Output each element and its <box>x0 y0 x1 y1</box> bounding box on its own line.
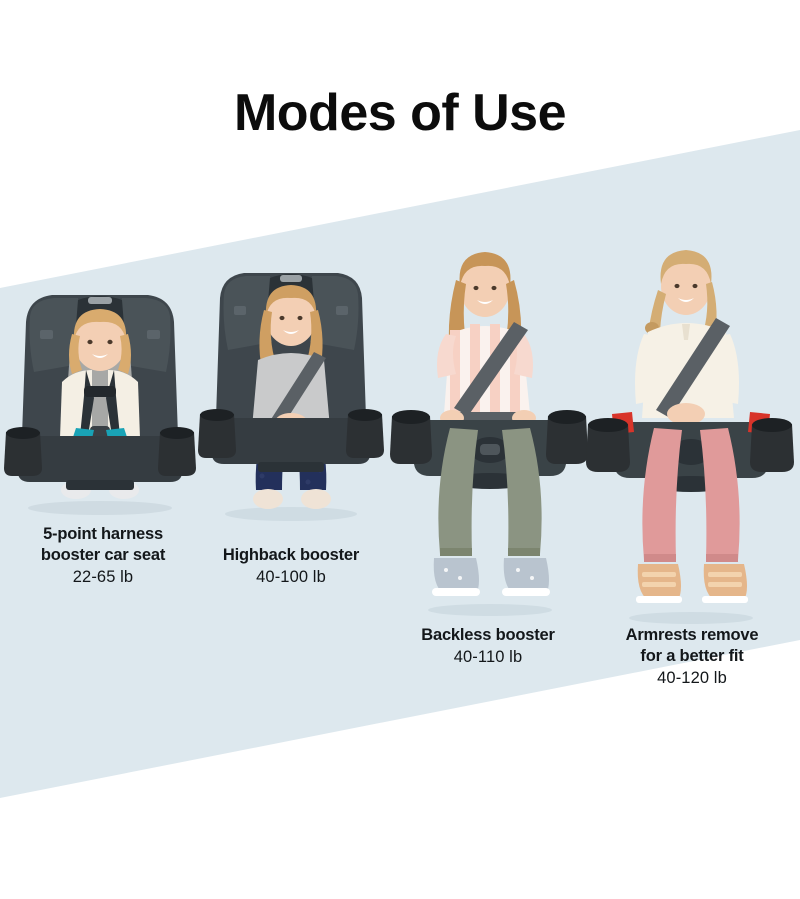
cup-holder-right <box>158 427 196 476</box>
caption-five-point-harness: 5-point harness booster car seat 22-65 l… <box>0 524 206 588</box>
caption-label-line2: for a better fit <box>580 646 800 667</box>
page-title: Modes of Use <box>0 86 800 141</box>
cup-holder-left <box>586 418 630 472</box>
cup-holder-right <box>346 409 384 458</box>
caption-label-line1: Backless booster <box>378 625 598 646</box>
armrest-release-illustration <box>586 236 796 626</box>
cup-holder-left <box>390 410 432 464</box>
caption-label-line1: Highback booster <box>190 545 392 566</box>
highback-booster-illustration <box>196 266 386 526</box>
caption-weight-range: 40-100 lb <box>190 566 392 588</box>
cup-holder-right <box>750 418 794 472</box>
caption-label-line1: 5-point harness <box>0 524 206 545</box>
harness-seat-illustration <box>0 286 200 516</box>
caption-weight-range: 40-120 lb <box>580 667 800 689</box>
caption-weight-range: 40-110 lb <box>378 646 598 668</box>
cup-holder-right <box>546 410 588 464</box>
caption-armrests-remove: Armrests remove for a better fit 40-120 … <box>580 625 800 689</box>
cup-holder-left <box>4 427 42 476</box>
caption-highback-booster: Highback booster 40-100 lb <box>190 545 392 588</box>
caption-backless-booster: Backless booster 40-110 lb <box>378 625 598 668</box>
caption-weight-range: 22-65 lb <box>0 566 206 588</box>
backless-booster-illustration <box>390 238 590 618</box>
caption-label-line2: booster car seat <box>0 545 206 566</box>
infographic-page: Modes of Use <box>0 0 800 899</box>
caption-label-line1: Armrests remove <box>580 625 800 646</box>
cup-holder-left <box>198 409 236 458</box>
